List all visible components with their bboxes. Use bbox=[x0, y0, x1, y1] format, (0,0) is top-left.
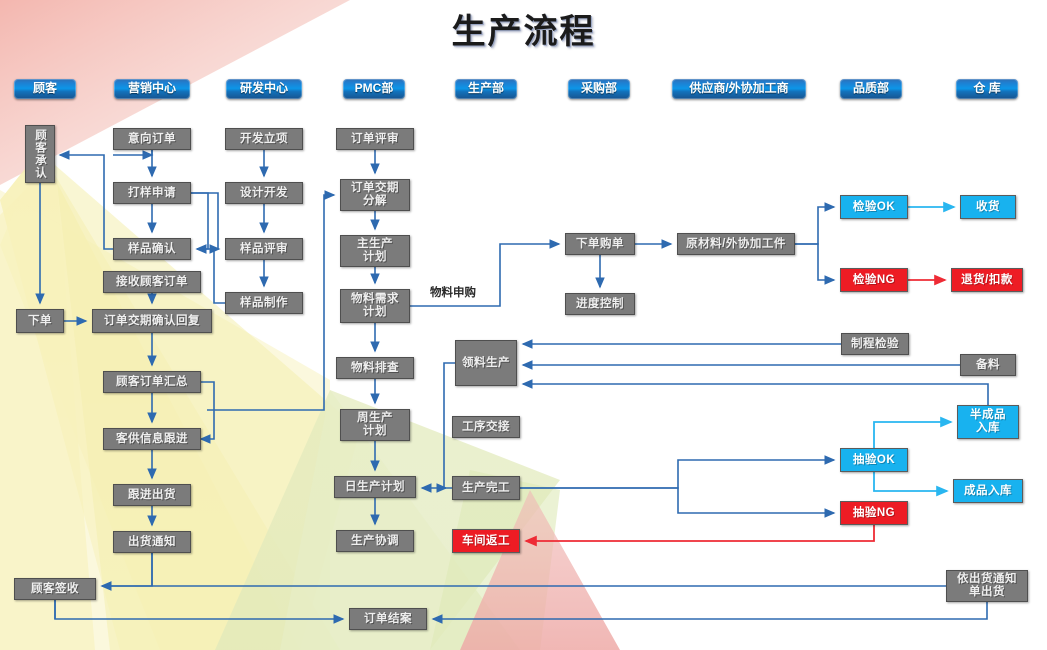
node-customer-acknowledge[interactable]: 顾客承认 bbox=[25, 125, 55, 183]
node-sample-confirm[interactable]: 样品确认 bbox=[113, 238, 191, 260]
node-progress-control[interactable]: 进度控制 bbox=[565, 293, 635, 315]
node-order-closing[interactable]: 订单结案 bbox=[349, 608, 427, 630]
node-place-purchase-order[interactable]: 下单购单 bbox=[565, 233, 635, 255]
node-sample-making[interactable]: 样品制作 bbox=[225, 292, 303, 314]
dept-chip-purchasing[interactable]: 采购部 bbox=[568, 79, 630, 99]
node-raw-material-outsourced-part[interactable]: 原材料/外协加工件 bbox=[677, 233, 795, 255]
dept-chip-customer[interactable]: 顾客 bbox=[14, 79, 76, 99]
node-order-delivery-confirm-reply[interactable]: 订单交期确认回复 bbox=[92, 309, 212, 333]
node-inspection-ok[interactable]: 检验OK bbox=[840, 195, 908, 219]
node-sampling-ng[interactable]: 抽验NG bbox=[840, 501, 908, 525]
node-workshop-rework[interactable]: 车间返工 bbox=[452, 529, 520, 553]
node-process-handover[interactable]: 工序交接 bbox=[452, 416, 520, 438]
node-material-requirement-plan[interactable]: 物料需求 计划 bbox=[340, 289, 410, 323]
node-return-deduction[interactable]: 退货/扣款 bbox=[951, 268, 1023, 292]
dept-chip-quality[interactable]: 品质部 bbox=[840, 79, 902, 99]
node-sample-review[interactable]: 样品评审 bbox=[225, 238, 303, 260]
node-weekly-production-plan[interactable]: 周生产 计划 bbox=[340, 409, 410, 441]
dept-chip-rd-center[interactable]: 研发中心 bbox=[226, 79, 302, 99]
node-sampling-ok[interactable]: 抽验OK bbox=[840, 448, 908, 472]
node-daily-production-plan[interactable]: 日生产计划 bbox=[334, 476, 416, 498]
node-customer-sign-receipt[interactable]: 顾客签收 bbox=[14, 578, 96, 600]
node-customer-supply-info-followup[interactable]: 客供信息跟进 bbox=[103, 428, 201, 450]
node-sample-request[interactable]: 打样申请 bbox=[113, 182, 191, 204]
node-intent-order[interactable]: 意向订单 bbox=[113, 128, 191, 150]
material-purchase-requisition-label: 物料申购 bbox=[430, 284, 476, 300]
node-followup-shipment[interactable]: 跟进出货 bbox=[113, 484, 191, 506]
node-inspection-ng[interactable]: 检验NG bbox=[840, 268, 908, 292]
node-production-complete[interactable]: 生产完工 bbox=[452, 476, 520, 500]
node-order-delivery-breakdown[interactable]: 订单交期 分解 bbox=[340, 179, 410, 211]
dept-chip-marketing-center[interactable]: 营销中心 bbox=[114, 79, 190, 99]
node-material-pick-production[interactable]: 领料生产 bbox=[455, 340, 517, 386]
node-customer-order-summary[interactable]: 顾客订单汇总 bbox=[103, 371, 201, 393]
node-master-production-plan[interactable]: 主生产 计划 bbox=[340, 235, 410, 267]
node-process-inspection[interactable]: 制程检验 bbox=[841, 333, 909, 355]
node-shipment-notice[interactable]: 出货通知 bbox=[113, 531, 191, 553]
node-goods-receipt[interactable]: 收货 bbox=[960, 195, 1016, 219]
node-production-coordination[interactable]: 生产协调 bbox=[336, 530, 414, 552]
node-semi-finished-warehousing[interactable]: 半成品 入库 bbox=[957, 405, 1019, 439]
dept-chip-warehouse[interactable]: 仓 库 bbox=[956, 79, 1018, 99]
dept-chip-pmc[interactable]: PMC部 bbox=[343, 79, 405, 99]
node-receive-customer-order[interactable]: 接收顾客订单 bbox=[103, 271, 201, 293]
node-finished-goods-warehousing[interactable]: 成品入库 bbox=[953, 479, 1023, 503]
page-title: 生产流程 bbox=[0, 4, 1047, 53]
node-development-project[interactable]: 开发立项 bbox=[225, 128, 303, 150]
node-ship-per-shipment-notice[interactable]: 依出货通知 单出货 bbox=[946, 570, 1028, 602]
node-design-development[interactable]: 设计开发 bbox=[225, 182, 303, 204]
node-material-preparation[interactable]: 备料 bbox=[960, 354, 1016, 376]
node-order-review[interactable]: 订单评审 bbox=[336, 128, 414, 150]
dept-chip-supplier[interactable]: 供应商/外协加工商 bbox=[672, 79, 806, 99]
node-place-order[interactable]: 下单 bbox=[16, 309, 64, 333]
dept-chip-production[interactable]: 生产部 bbox=[455, 79, 517, 99]
node-material-check[interactable]: 物料排查 bbox=[336, 357, 414, 379]
